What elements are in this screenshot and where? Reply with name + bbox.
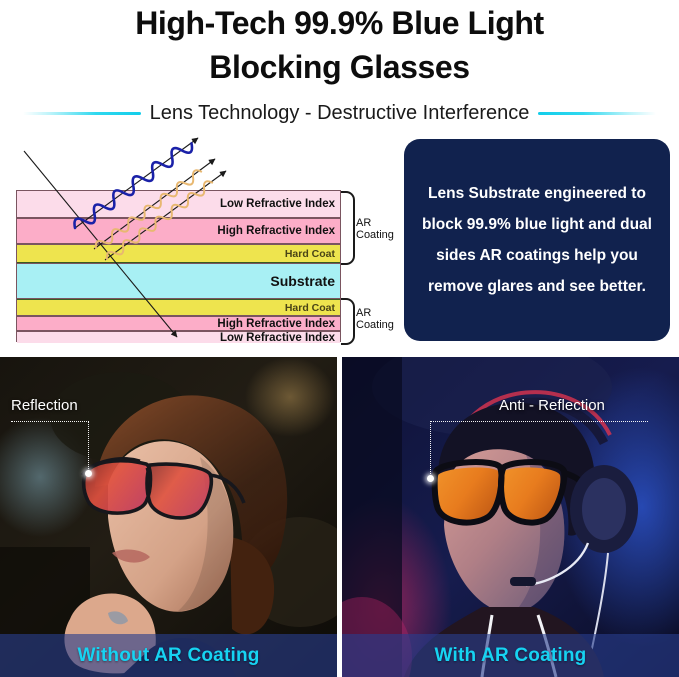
ar-coating-braces: AR Coating AR Coating bbox=[341, 190, 394, 342]
caption-bar-right: With AR Coating bbox=[342, 634, 679, 677]
layer-low-refractive-index-top: Low Refractive Index bbox=[17, 191, 340, 218]
panel-with-ar-coating: Anti - Reflection With AR Coating bbox=[342, 357, 679, 677]
title-line-2: Blocking Glasses bbox=[209, 45, 469, 89]
anti-reflection-hotspot-dot bbox=[427, 475, 434, 482]
caption-bar-left: Without AR Coating bbox=[0, 634, 337, 677]
layer-high-refractive-index-bottom: High Refractive Index bbox=[17, 316, 340, 331]
leader-line-horizontal bbox=[11, 421, 89, 422]
callout-box: Lens Substrate engineered to block 99.9%… bbox=[404, 139, 670, 341]
brace-bottom-icon bbox=[341, 298, 355, 345]
layer-label: Low Refractive Index bbox=[220, 198, 340, 210]
layer-label: High Refractive Index bbox=[217, 225, 340, 237]
layer-label: Hard Coat bbox=[285, 302, 340, 314]
layer-substrate: Substrate bbox=[17, 263, 340, 299]
lens-layer-diagram: Low Refractive Index High Refractive Ind… bbox=[8, 132, 394, 350]
callout-text: Lens Substrate engineered to block 99.9%… bbox=[416, 178, 658, 302]
panel-without-ar-coating: Reflection Without AR Coating bbox=[0, 357, 337, 677]
layer-label: Hard Coat bbox=[285, 248, 340, 260]
layer-low-refractive-index-bottom: Low Refractive Index bbox=[17, 331, 340, 343]
subtitle-text: Lens Technology - Destructive Interferen… bbox=[150, 100, 530, 126]
brace-label-bottom: AR Coating bbox=[356, 308, 394, 331]
leader-line-horizontal bbox=[430, 421, 648, 422]
reflection-hotspot-dot bbox=[85, 470, 92, 477]
divider-rule-left bbox=[23, 112, 141, 115]
layer-hard-coat-bottom: Hard Coat bbox=[17, 299, 340, 316]
comparison-photos: Reflection Without AR Coating bbox=[0, 357, 679, 677]
layer-label: Low Refractive Index bbox=[220, 332, 340, 344]
product-infographic: High-Tech 99.9% Blue Light Blocking Glas… bbox=[0, 0, 679, 677]
layer-high-refractive-index-top: High Refractive Index bbox=[17, 218, 340, 244]
leader-line-vertical bbox=[430, 421, 431, 478]
brace-label-top: AR Coating bbox=[356, 218, 394, 241]
layer-label: High Refractive Index bbox=[217, 318, 340, 330]
layer-label: Substrate bbox=[270, 273, 340, 289]
brace-top-icon bbox=[341, 191, 355, 265]
annotation-label: Anti - Reflection bbox=[499, 397, 605, 414]
annotation-label: Reflection bbox=[11, 397, 78, 414]
caption-text: With AR Coating bbox=[435, 645, 587, 667]
subtitle-bar: Lens Technology - Destructive Interferen… bbox=[0, 96, 679, 130]
lens-stack: Low Refractive Index High Refractive Ind… bbox=[16, 190, 341, 342]
title-line-1: High-Tech 99.9% Blue Light bbox=[135, 1, 544, 45]
page-title: High-Tech 99.9% Blue Light Blocking Glas… bbox=[0, 0, 679, 96]
layer-hard-coat-top: Hard Coat bbox=[17, 244, 340, 263]
leader-line-vertical bbox=[88, 421, 89, 473]
divider-rule-right bbox=[538, 112, 656, 115]
caption-text: Without AR Coating bbox=[77, 645, 259, 667]
